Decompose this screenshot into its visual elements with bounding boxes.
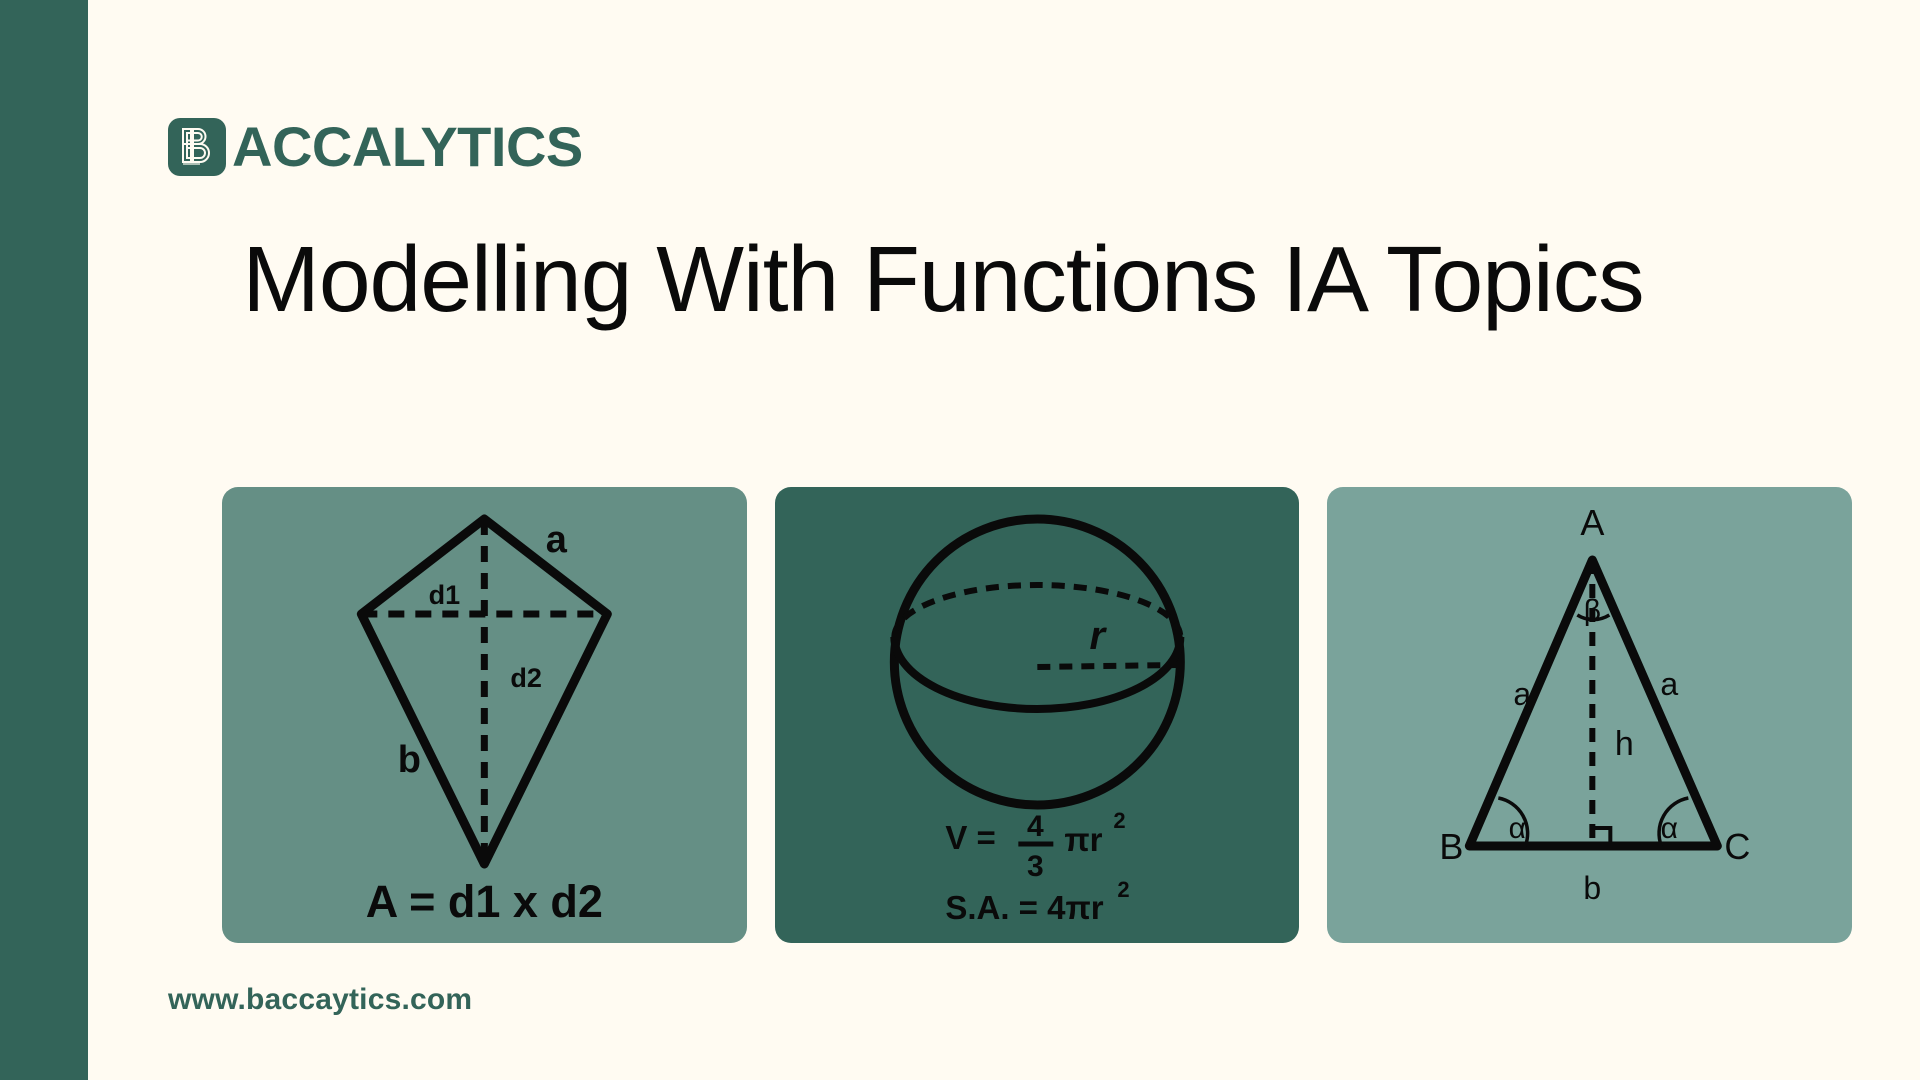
kite-label-d1: d1 <box>429 580 461 610</box>
triangle-side-left: a <box>1514 676 1532 712</box>
triangle-side-right: a <box>1661 666 1679 702</box>
page-title: Modelling With Functions IA Topics <box>178 232 1708 327</box>
triangle-height-label: h <box>1615 725 1634 763</box>
triangle-base-label: b <box>1584 870 1602 906</box>
triangle-angle-base-left: α <box>1509 812 1526 845</box>
footer-website-url[interactable]: www.baccaytics.com <box>168 983 472 1017</box>
diagram-card-row: a b d1 d2 A = d1 x d2 r <box>222 487 1852 943</box>
kite-label-b: b <box>398 739 421 781</box>
sphere-surface-area-formula: S.A. = 4πr 2 <box>945 877 1129 926</box>
svg-text:S.A. = 4πr: S.A. = 4πr <box>945 889 1103 926</box>
svg-text:3: 3 <box>1027 850 1044 883</box>
svg-text:V =: V = <box>945 819 995 856</box>
triangle-vertex-a: A <box>1581 502 1605 543</box>
sphere-volume-formula: V = 4 3 πr 2 <box>945 808 1125 883</box>
triangle-vertex-c: C <box>1725 826 1751 867</box>
card-sphere[interactable]: r V = 4 3 πr 2 S.A. = 4πr 2 <box>775 487 1300 943</box>
card-kite[interactable]: a b d1 d2 A = d1 x d2 <box>222 487 747 943</box>
kite-area-formula: A = d1 x d2 <box>366 876 603 927</box>
kite-label-a: a <box>546 519 568 561</box>
baccalytics-b-icon <box>168 118 226 176</box>
slide-content: ACCALYTICS Modelling With Functions IA T… <box>88 0 1920 1080</box>
brand-logo[interactable]: ACCALYTICS <box>168 118 583 176</box>
brand-wordmark: ACCALYTICS <box>232 119 583 175</box>
triangle-angle-base-right: α <box>1661 812 1678 845</box>
card-triangle[interactable]: A B C a a b h β α α <box>1327 487 1852 943</box>
triangle-vertex-b: B <box>1440 826 1464 867</box>
svg-text:πr: πr <box>1064 821 1102 858</box>
sphere-label-r: r <box>1089 614 1107 658</box>
svg-text:2: 2 <box>1117 877 1129 902</box>
kite-label-d2: d2 <box>510 663 542 693</box>
left-accent-band <box>0 0 88 1080</box>
svg-text:2: 2 <box>1113 808 1125 833</box>
triangle-angle-apex: β <box>1584 594 1601 627</box>
svg-text:4: 4 <box>1027 810 1044 843</box>
